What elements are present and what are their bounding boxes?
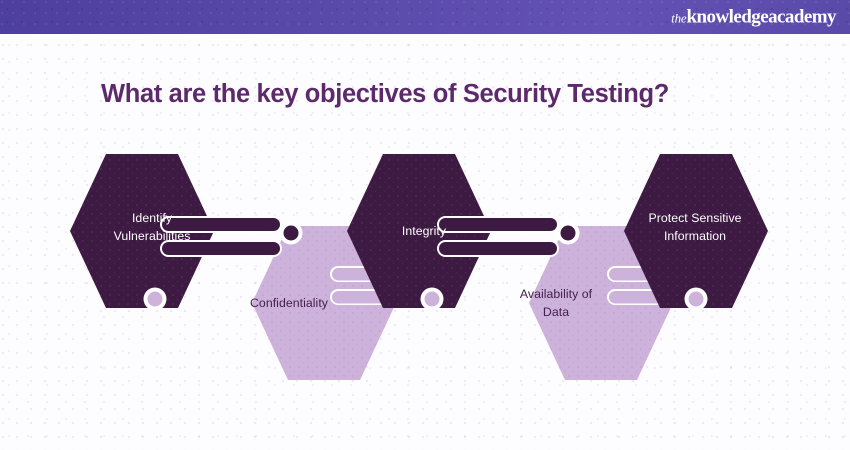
label-protect-sensitive-information-line2: Information [664,229,726,243]
node-dot-integrity-bottom [421,288,444,311]
label-identify-vulnerabilities-line1: Identify [132,211,173,225]
node-dot-availability-top [557,222,580,245]
label-protect-sensitive-information-line1: Protect Sensitive [648,211,741,225]
label-integrity: Integrity [402,224,447,238]
page-header: theknowledgeacademy [0,0,850,34]
label-availability-of-data-line2: Data [543,305,569,319]
label-confidentiality: Confidentiality [250,296,329,310]
page-title: What are the key objectives of Security … [101,79,801,110]
node-dot-confidentiality-top [280,222,303,245]
infographic-page: theknowledgeacademy What are the key obj… [0,0,850,450]
label-availability-of-data-line1: Availability of [520,287,593,301]
node-dot-protect-bottom [685,288,708,311]
logo-main-text: knowledgeacademy [686,7,836,28]
node-dot-identify-bottom [144,288,167,311]
label-identify-vulnerabilities-line2: Vulnerabilities [114,229,191,243]
logo-the-text: the [671,11,686,26]
brand-logo: theknowledgeacademy [671,8,836,27]
objectives-diagram: Identify Vulnerabilities Confidentiality… [0,140,850,390]
